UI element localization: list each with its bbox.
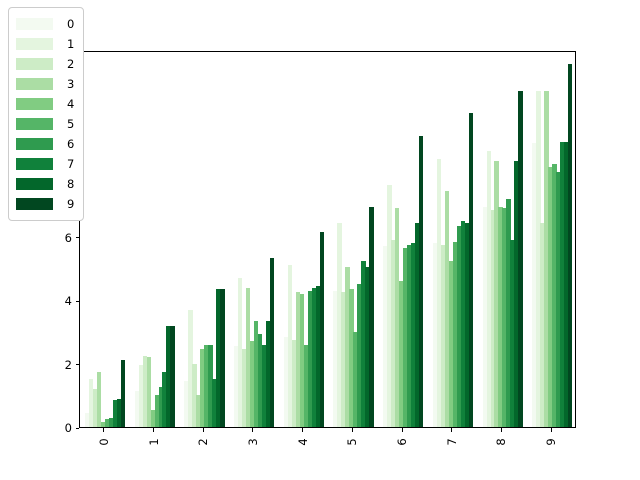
legend-label: 5 [67, 114, 75, 134]
bar [220, 289, 224, 427]
legend-item: 1 [16, 34, 75, 54]
x-tick-label: 3 [246, 434, 260, 450]
x-tick-mark [551, 428, 552, 432]
bar [270, 258, 274, 427]
bar-group [234, 52, 274, 427]
bar [170, 326, 174, 427]
legend-label: 3 [67, 74, 75, 94]
x-tick-label: 6 [395, 434, 409, 450]
legend-item: 3 [16, 74, 75, 94]
bar [518, 91, 522, 427]
x-tick-label: 4 [296, 434, 310, 450]
legend-swatch [16, 18, 53, 30]
bar-group [135, 52, 175, 427]
bar [97, 372, 101, 427]
legend-item: 9 [16, 194, 75, 214]
x-tick-mark [302, 428, 303, 432]
legend-label: 9 [67, 194, 75, 214]
x-tick-mark [501, 428, 502, 432]
legend-swatch [16, 38, 53, 50]
bar [121, 360, 125, 427]
x-tick-label: 9 [544, 434, 558, 450]
x-tick-label: 1 [147, 434, 161, 450]
bar-group [532, 52, 572, 427]
legend-swatch [16, 138, 53, 150]
bar-group [333, 52, 373, 427]
legend-label: 4 [67, 94, 75, 114]
x-tick-label: 0 [97, 434, 111, 450]
x-tick-label: 7 [445, 434, 459, 450]
x-axis: 0123456789 [79, 428, 576, 480]
x-tick-mark [402, 428, 403, 432]
x-tick-mark [153, 428, 154, 432]
x-tick-mark [203, 428, 204, 432]
y-tick-label: 4 [65, 293, 72, 309]
plot-axes [79, 51, 576, 428]
legend-item: 7 [16, 154, 75, 174]
legend-swatch [16, 178, 53, 190]
legend-swatch [16, 58, 53, 70]
x-tick-mark [451, 428, 452, 432]
bar [469, 113, 473, 427]
legend-item: 0 [16, 14, 75, 34]
legend-label: 7 [67, 154, 75, 174]
legend-item: 6 [16, 134, 75, 154]
bar-group [433, 52, 473, 427]
x-tick-label: 2 [196, 434, 210, 450]
legend-swatch [16, 198, 53, 210]
legend: 0123456789 [8, 7, 84, 221]
y-tick-label: 0 [65, 420, 72, 436]
legend-label: 0 [67, 14, 75, 34]
legend-item: 5 [16, 114, 75, 134]
legend-label: 8 [67, 174, 75, 194]
bar-group [184, 52, 224, 427]
x-tick-mark [352, 428, 353, 432]
legend-swatch [16, 118, 53, 130]
legend-label: 2 [67, 54, 75, 74]
bar [320, 232, 324, 427]
legend-swatch [16, 78, 53, 90]
legend-label: 6 [67, 134, 75, 154]
bar-group [483, 52, 523, 427]
legend-swatch [16, 158, 53, 170]
bar [419, 136, 423, 427]
legend-item: 4 [16, 94, 75, 114]
bar-group [284, 52, 324, 427]
bar-group [85, 52, 125, 427]
legend-swatch [16, 98, 53, 110]
x-tick-mark [252, 428, 253, 432]
y-tick-label: 2 [65, 357, 72, 373]
matplotlib-figure: 0246810 0123456789 0123456789 [0, 0, 640, 480]
x-tick-label: 5 [345, 434, 359, 450]
legend-item: 2 [16, 54, 75, 74]
plot-area [80, 52, 575, 427]
x-tick-label: 8 [494, 434, 508, 450]
bar-group [383, 52, 423, 427]
bar [369, 207, 373, 427]
legend-item: 8 [16, 174, 75, 194]
bar [568, 64, 572, 427]
legend-label: 1 [67, 34, 75, 54]
x-tick-mark [103, 428, 104, 432]
y-tick-label: 6 [65, 230, 72, 246]
